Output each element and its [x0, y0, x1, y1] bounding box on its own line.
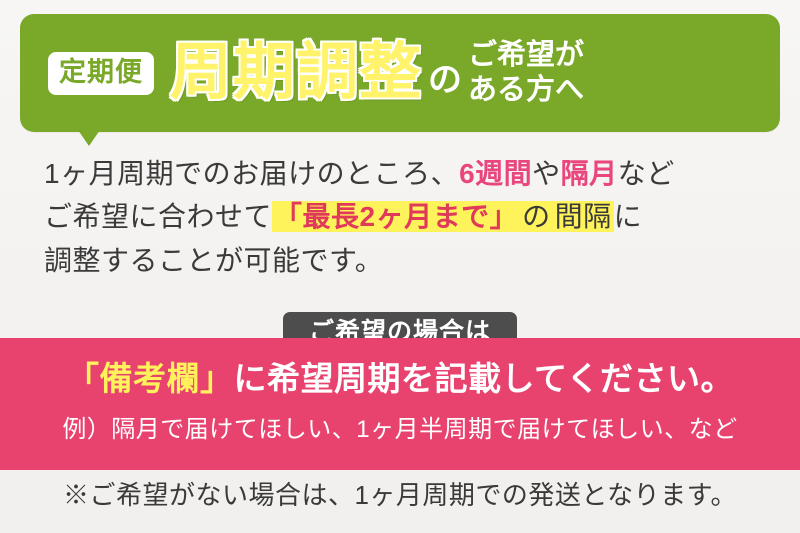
- body-line-2-text: ご希望に合わせて: [44, 201, 272, 232]
- pink-band-example-text: 例）隔月で届けてほしい、1ヶ月半周期で届けてほしい、など: [0, 418, 800, 442]
- promo-graphic: 定期便 周期調整 の ご希望が ある方へ 1ヶ月周期でのお届けのところ、6週間や…: [0, 0, 800, 533]
- pink-instruction-band: 「備考欄」に希望周期を記載してください。 例）隔月で届けてほしい、1ヶ月半周期で…: [0, 338, 800, 470]
- body-line-2-suffix: に: [614, 201, 643, 232]
- banner-subtitle-line2: ある方へ: [468, 73, 584, 108]
- banner-particle: の: [428, 63, 462, 97]
- header-banner-content: 定期便 周期調整 の ご希望が ある方へ: [20, 14, 780, 132]
- body-line-1-suffix: など: [618, 158, 675, 189]
- body-line-1: 1ヶ月周期でのお届けのところ、6週間や隔月など: [44, 152, 768, 195]
- body-line-1-text: 1ヶ月周期でのお届けのところ、: [44, 158, 459, 189]
- footnote-text: ※ご希望がない場合は、1ヶ月周期での発送となります。: [0, 482, 800, 508]
- subscription-pill-label: 定期便: [48, 52, 154, 95]
- body-line-2-particle: の: [520, 201, 553, 232]
- header-banner: 定期便 周期調整 の ご希望が ある方へ: [20, 14, 780, 132]
- body-line-3: 調整することが可能です。: [44, 239, 768, 282]
- body-paragraph: 1ヶ月周期でのお届けのところ、6週間や隔月など ご希望に合わせて「最長2ヶ月まで…: [44, 152, 768, 282]
- banner-subtitle: ご希望が ある方へ: [468, 38, 584, 109]
- banner-subtitle-line1: ご希望が: [468, 38, 584, 73]
- pink-band-main-rest: に希望周期を記載してください。: [233, 360, 734, 397]
- remarks-field-highlight: 「備考欄」: [66, 360, 234, 397]
- banner-speech-tail-icon: [78, 130, 100, 146]
- body-interval-highlight: 間隔: [553, 201, 614, 232]
- banner-main-title: 周期調整: [170, 42, 422, 104]
- body-line-2: ご希望に合わせて「最長2ヶ月まで」の間隔に: [44, 195, 768, 238]
- body-bimonthly-highlight: 隔月: [561, 158, 618, 189]
- body-max-period-highlight: 「最長2ヶ月まで」: [272, 201, 520, 232]
- body-weeks-highlight: 6週間: [459, 158, 532, 189]
- pink-band-main-text: 「備考欄」に希望周期を記載してください。: [0, 362, 800, 395]
- body-line-1-conjunction: や: [532, 158, 561, 189]
